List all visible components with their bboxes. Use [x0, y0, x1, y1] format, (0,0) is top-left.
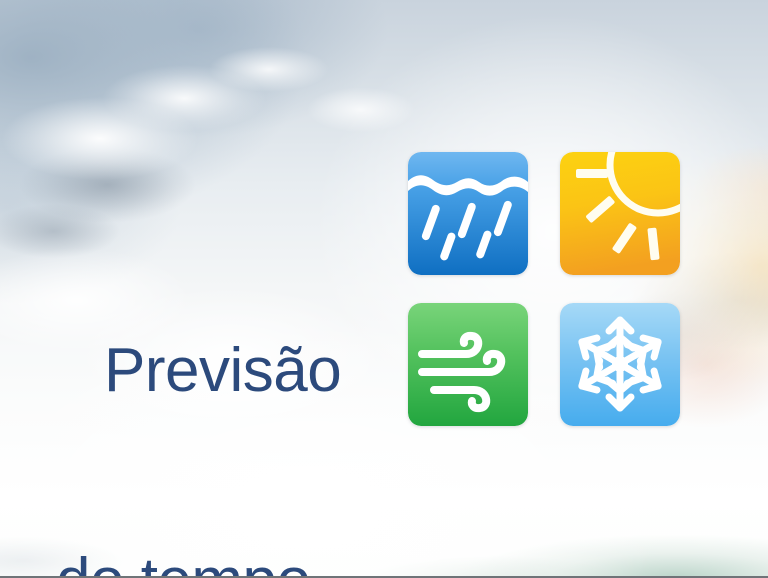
title-line-1: Previsão: [104, 336, 341, 406]
title-line-2: do tempo: [56, 546, 341, 578]
weather-icon-grid: [408, 152, 680, 425]
weather-tile-wind[interactable]: [408, 303, 528, 426]
weather-tile-snow[interactable]: [560, 303, 680, 426]
weather-tile-sun[interactable]: [560, 152, 680, 275]
weather-title-card: Previsão do tempo: [0, 0, 768, 578]
rain-cloud-icon: [408, 152, 528, 275]
sun-icon: [560, 152, 680, 275]
weather-tile-rain[interactable]: [408, 152, 528, 275]
page-title: Previsão do tempo: [56, 196, 341, 578]
wind-icon: [408, 303, 528, 426]
snowflake-icon: [560, 303, 680, 426]
